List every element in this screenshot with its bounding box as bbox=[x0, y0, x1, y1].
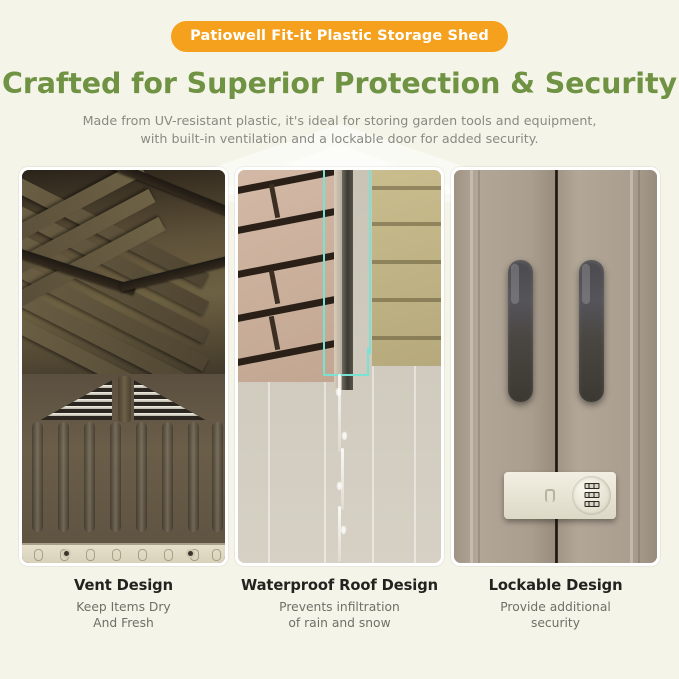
caption-description: Provide additional security bbox=[451, 599, 660, 632]
page-title: Crafted for Superior Protection & Securi… bbox=[0, 67, 679, 100]
door-handle-right[interactable] bbox=[579, 260, 604, 402]
caption-vent-design: Vent Design Keep Items Dry And Fresh bbox=[19, 577, 228, 632]
feature-caption-row: Vent Design Keep Items Dry And Fresh Wat… bbox=[0, 577, 679, 632]
caption-lockable-design: Lockable Design Provide additional secur… bbox=[451, 577, 660, 632]
water-stream bbox=[338, 506, 341, 562]
caption-title: Waterproof Roof Design bbox=[235, 577, 444, 594]
feature-image-row bbox=[0, 167, 679, 566]
product-badge: Patiowell Fit-it Plastic Storage Shed bbox=[171, 21, 508, 52]
water-droplet bbox=[342, 432, 347, 440]
feature-card-waterproof-roof bbox=[235, 167, 444, 566]
caption-waterproof-roof-design: Waterproof Roof Design Prevents infiltra… bbox=[235, 577, 444, 632]
gable-center-post bbox=[118, 376, 131, 422]
caption-line-2: of rain and snow bbox=[288, 616, 390, 630]
caption-description: Keep Items Dry And Fresh bbox=[19, 599, 228, 632]
drip-channel-highlight bbox=[323, 170, 371, 354]
caption-line-1: Provide additional bbox=[500, 600, 611, 614]
base-screw bbox=[64, 551, 69, 556]
water-stream bbox=[338, 374, 341, 452]
caption-line-2: And Fresh bbox=[93, 616, 154, 630]
feature-card-vent-design bbox=[19, 167, 228, 566]
lock-hasp-plate[interactable] bbox=[504, 472, 616, 519]
caption-line-1: Keep Items Dry bbox=[76, 600, 170, 614]
caption-line-2: security bbox=[531, 616, 580, 630]
roof-rafters-area bbox=[22, 170, 225, 386]
roof-edge-water-runoff-photo bbox=[238, 170, 441, 563]
double-door-combination-lock-photo bbox=[454, 170, 657, 563]
water-stream bbox=[341, 448, 344, 510]
shed-interior-gable-vent-photo bbox=[22, 170, 225, 563]
door-handle-left[interactable] bbox=[508, 260, 533, 402]
subtitle-line-2: with built-in ventilation and a lockable… bbox=[141, 131, 539, 146]
subtitle-line-1: Made from UV-resistant plastic, it's ide… bbox=[83, 113, 597, 128]
drip-channel-highlight-step bbox=[345, 348, 369, 376]
feature-card-lockable-design bbox=[451, 167, 660, 566]
base-panel bbox=[22, 543, 225, 563]
base-screw bbox=[188, 551, 193, 556]
water-droplet bbox=[336, 388, 341, 396]
gable-wall bbox=[22, 374, 225, 563]
gable-vent-left bbox=[40, 380, 112, 420]
drip-channel-highlight-step bbox=[323, 348, 347, 376]
roof-surface-right bbox=[372, 170, 441, 367]
water-droplet bbox=[341, 526, 346, 534]
lock-shackle bbox=[545, 489, 555, 502]
caption-title: Lockable Design bbox=[451, 577, 660, 594]
combination-lock-dial[interactable] bbox=[572, 476, 611, 515]
page-subtitle: Made from UV-resistant plastic, it's ide… bbox=[60, 112, 620, 149]
caption-description: Prevents infiltration of rain and snow bbox=[235, 599, 444, 632]
caption-title: Vent Design bbox=[19, 577, 228, 594]
page-header: Patiowell Fit-it Plastic Storage Shed Cr… bbox=[0, 0, 679, 149]
caption-line-1: Prevents infiltration bbox=[279, 600, 400, 614]
water-droplet bbox=[337, 482, 342, 490]
gable-vent-right bbox=[134, 380, 206, 420]
